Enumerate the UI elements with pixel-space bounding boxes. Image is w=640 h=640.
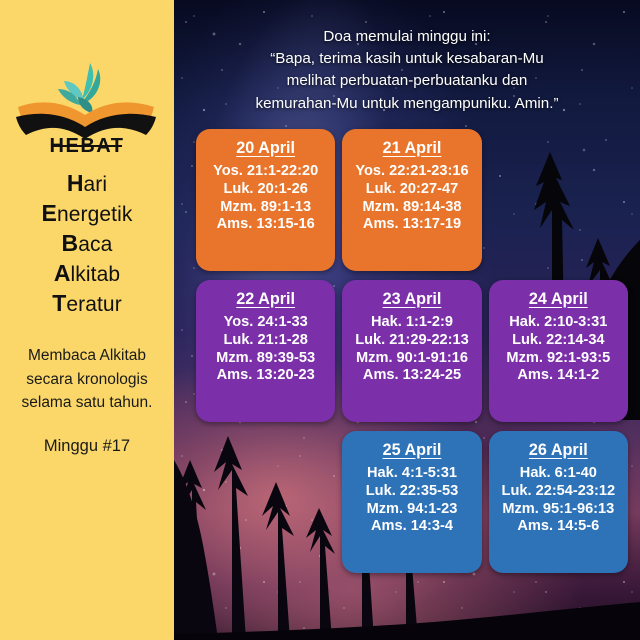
card-reference: Ams. 13:24-25: [363, 367, 461, 385]
card-reference: Yos. 21:1-22:20: [213, 163, 318, 181]
reading-card[interactable]: 26 April Hak. 6:1-40 Luk. 22:54-23:12 Mz…: [489, 431, 628, 573]
card-reference: Mzm. 90:1-91:16: [356, 350, 468, 368]
acronym-rest: nergetik: [57, 203, 133, 226]
card-reference: Hak. 6:1-40: [520, 465, 597, 483]
card-reference: Yos. 22:21-23:16: [355, 163, 468, 181]
reading-card[interactable]: 22 April Yos. 24:1-33 Luk. 21:1-28 Mzm. …: [196, 280, 335, 422]
program-description: Membaca Alkitab secara kronologis selama…: [12, 344, 162, 415]
card-reference: Mzm. 92:1-93:5: [506, 350, 610, 368]
reading-card[interactable]: 20 April Yos. 21:1-22:20 Luk. 20:1-26 Mz…: [196, 129, 335, 271]
card-reference: Luk. 21:1-28: [223, 332, 307, 350]
card-date: 26 April: [529, 441, 588, 461]
card-reference: Mzm. 89:14-38: [363, 199, 462, 217]
reading-schedule-grid: 20 April Yos. 21:1-22:20 Luk. 20:1-26 Mz…: [174, 129, 640, 573]
card-reference: Luk. 21:29-22:13: [355, 332, 469, 350]
card-reference: Hak. 4:1-5:31: [367, 465, 457, 483]
card-reference: Yos. 24:1-33: [224, 314, 308, 332]
card-reference: Luk. 20:27-47: [366, 181, 458, 199]
acronym-initial: T: [52, 290, 66, 316]
card-reference: Ams. 13:17-19: [363, 216, 461, 234]
acronym-line-1: Hari: [42, 169, 133, 199]
prayer-line-1: “Bapa, terima kasih untuk kesabaran-Mu: [186, 48, 628, 70]
card-reference: Hak. 1:1-2:9: [371, 314, 453, 332]
card-reference: Luk. 22:35-53: [366, 483, 458, 501]
open-book-dove-icon: HEBAT: [12, 55, 162, 155]
reading-card[interactable]: 25 April Hak. 4:1-5:31 Luk. 22:35-53 Mzm…: [342, 431, 481, 573]
reading-card[interactable]: 21 April Yos. 22:21-23:16 Luk. 20:27-47 …: [342, 129, 481, 271]
card-date: 20 April: [236, 139, 295, 159]
acronym-initial: B: [62, 230, 79, 256]
acronym-rest: ari: [84, 173, 108, 196]
card-date: 22 April: [236, 290, 295, 310]
acronym-rest: aca: [78, 233, 112, 256]
card-date: 24 April: [529, 290, 588, 310]
acronym-initial: E: [42, 200, 57, 226]
prayer-line-2: melihat perbuatan-perbuatanku dan: [186, 70, 628, 92]
card-reference: Ams. 14:5-6: [517, 518, 599, 536]
card-reference: Luk. 22:14-34: [512, 332, 604, 350]
reading-card[interactable]: 23 April Hak. 1:1-2:9 Luk. 21:29-22:13 M…: [342, 280, 481, 422]
card-reference: Luk. 22:54-23:12: [502, 483, 616, 501]
card-reference: Ams. 14:3-4: [371, 518, 453, 536]
card-reference: Mzm. 89:1-13: [220, 199, 311, 217]
acronym-rest: eratur: [66, 293, 121, 316]
poster: HEBAT Hari Energetik Baca Alkitab Teratu…: [0, 0, 640, 640]
hebat-logo: HEBAT: [12, 55, 162, 155]
card-reference: Mzm. 95:1-96:13: [502, 501, 614, 519]
acronym-line-3: Baca: [42, 229, 133, 259]
card-date: 21 April: [383, 139, 442, 159]
card-reference: Ams. 13:15-16: [217, 216, 315, 234]
acronym-line-5: Teratur: [42, 289, 133, 319]
week-number-label: Minggu #17: [44, 437, 130, 456]
card-reference: Mzm. 94:1-23: [367, 501, 458, 519]
acronym-block: Hari Energetik Baca Alkitab Teratur: [42, 169, 133, 318]
prayer-line-3: kemurahan-Mu untuk mengampuniku. Amin.”: [186, 93, 628, 115]
acronym-line-4: Alkitab: [42, 259, 133, 289]
card-reference: Ams. 14:1-2: [517, 367, 599, 385]
night-sky-panel: Doa memulai minggu ini: “Bapa, terima ka…: [174, 0, 640, 640]
card-date: 25 April: [383, 441, 442, 461]
card-date: 23 April: [383, 290, 442, 310]
acronym-initial: H: [67, 170, 84, 196]
acronym-line-2: Energetik: [42, 199, 133, 229]
acronym-rest: lkitab: [71, 263, 121, 286]
prayer-header: Doa memulai minggu ini: “Bapa, terima ka…: [174, 0, 640, 115]
card-reference: Hak. 2:10-3:31: [509, 314, 607, 332]
prayer-intro: Doa memulai minggu ini:: [186, 26, 628, 48]
acronym-initial: A: [54, 260, 71, 286]
reading-card[interactable]: 24 April Hak. 2:10-3:31 Luk. 22:14-34 Mz…: [489, 280, 628, 422]
card-reference: Luk. 20:1-26: [223, 181, 307, 199]
card-reference: Ams. 13:20-23: [217, 367, 315, 385]
card-reference: Mzm. 89:39-53: [216, 350, 315, 368]
brand-sidebar: HEBAT Hari Energetik Baca Alkitab Teratu…: [0, 0, 174, 640]
